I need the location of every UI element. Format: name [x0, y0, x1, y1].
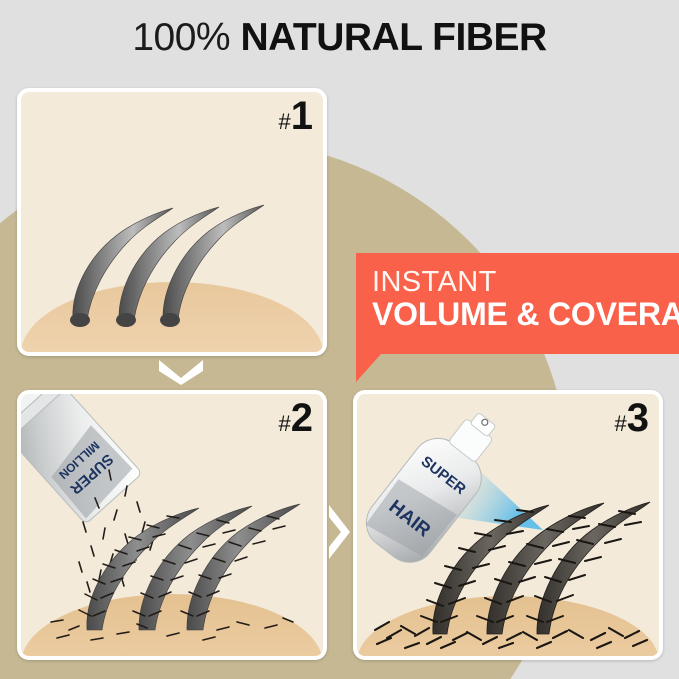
banner-coverage-text: COVERAGE: [548, 296, 679, 332]
infographic-root: 100% NATURAL FIBER: [0, 0, 679, 679]
step-panel-2: SUPER MILLION: [17, 390, 327, 660]
page-title: 100% NATURAL FIBER: [0, 16, 679, 60]
step-panel-3: SUPER HAIR: [353, 390, 663, 660]
title-bold-part: NATURAL FIBER: [240, 16, 546, 59]
promo-banner: INSTANT VOLUME & COVERAGE: [356, 253, 679, 354]
panel-1-hash: #: [279, 109, 291, 134]
chevron-right-icon: [324, 503, 354, 561]
panel-1-number: 1: [291, 94, 312, 138]
chevron-down-icon: [155, 355, 207, 385]
banner-volume-text: VOLUME: [372, 296, 516, 332]
panel-2-number: 2: [291, 396, 312, 440]
panel-3-hash: #: [615, 411, 627, 436]
banner-line-volume-coverage: VOLUME & COVERAGE: [372, 297, 679, 333]
panel-2-number-badge: #2: [279, 398, 313, 438]
banner-line-instant: INSTANT: [372, 267, 679, 297]
banner-tail-decoration: [356, 354, 381, 382]
banner-ampersand: &: [516, 296, 548, 332]
scalp-fiber-mat: [375, 622, 647, 648]
title-light-part: 100%: [132, 16, 240, 59]
panel-1-number-badge: #1: [279, 96, 313, 136]
panel-3-number: 3: [627, 396, 648, 440]
fiber-bottle: SUPER MILLION: [21, 394, 142, 524]
panel-3-number-badge: #3: [615, 398, 649, 438]
step-panel-1: #1: [17, 88, 327, 356]
panel-2-hash: #: [279, 411, 291, 436]
